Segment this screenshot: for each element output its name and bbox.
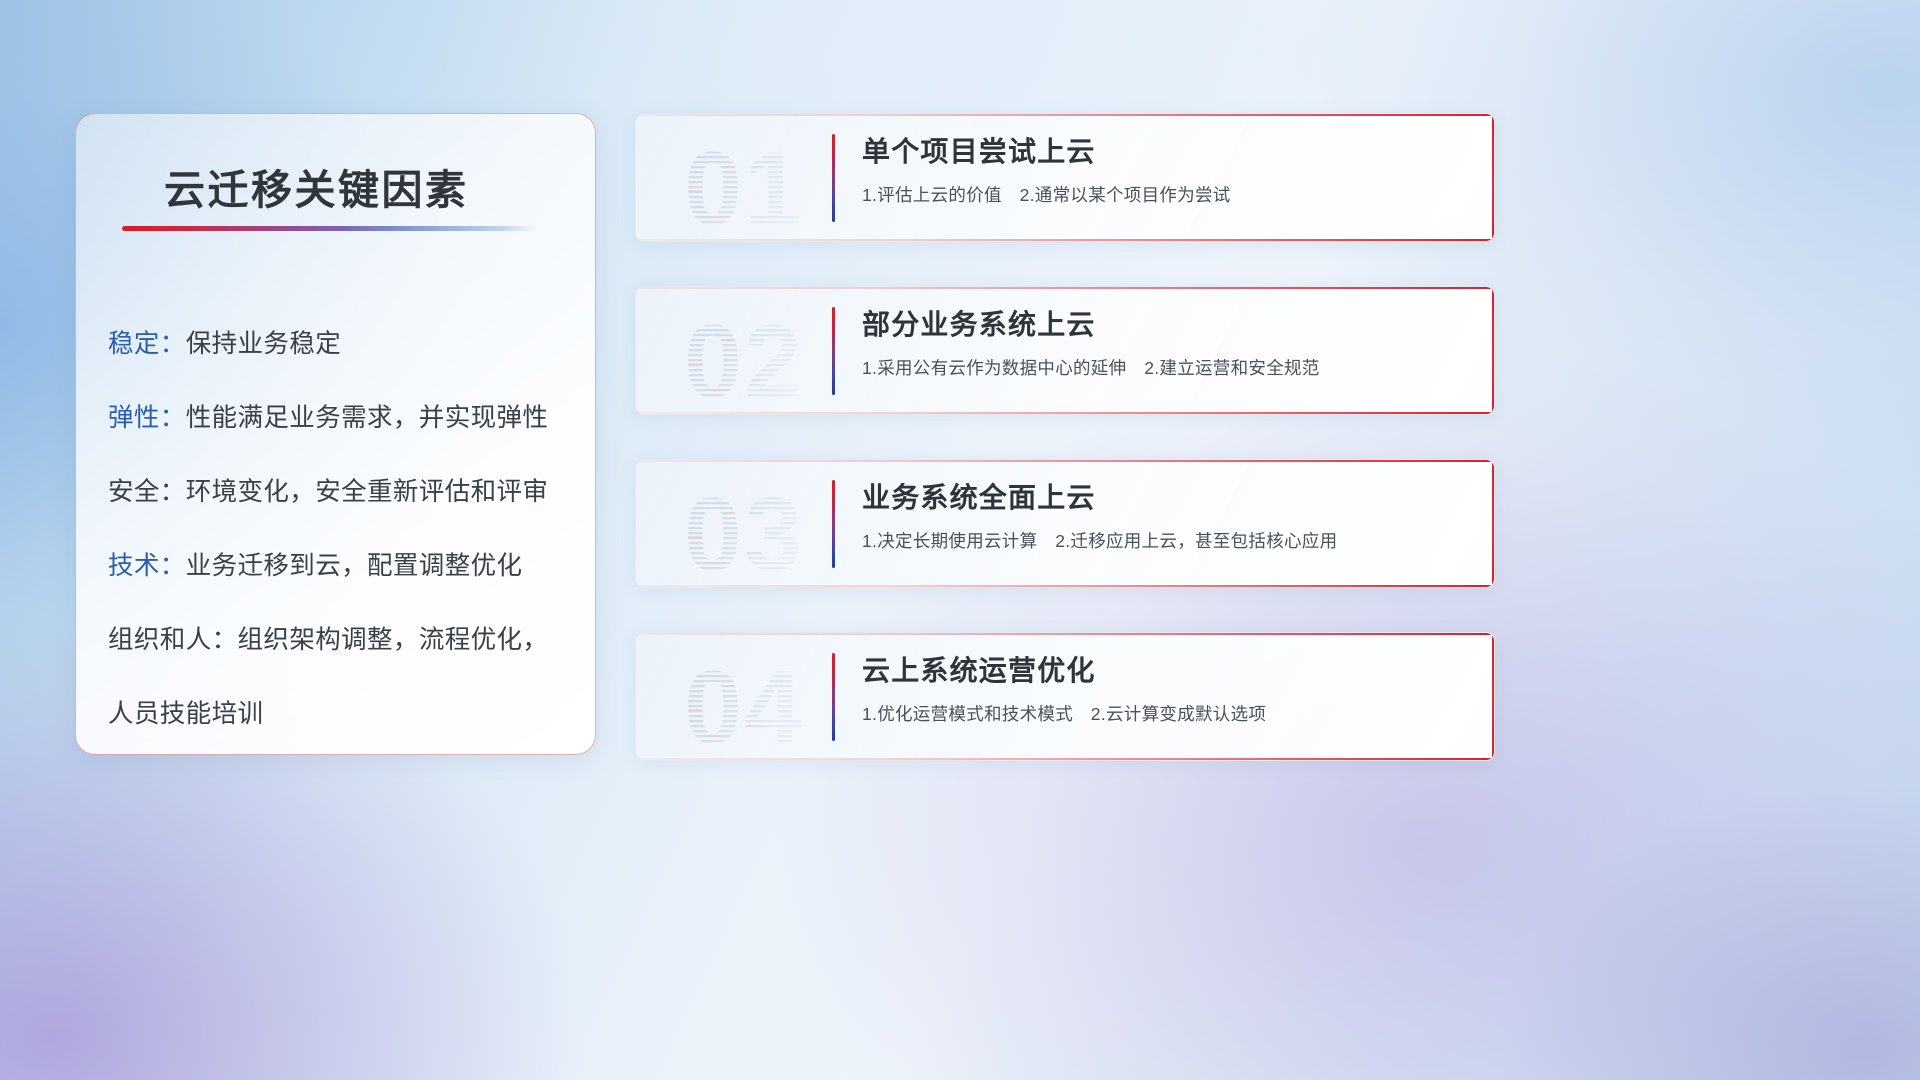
key-factor-value: 性能满足业务需求，并实现弹性 xyxy=(186,404,549,432)
step-title: 云上系统运营优化 xyxy=(862,651,1470,691)
key-factor-row: 稳定：保持业务稳定 xyxy=(108,307,573,381)
step-accent-bar xyxy=(832,480,835,568)
card-right-accent xyxy=(1492,460,1494,587)
key-factor-value: 环境变化，安全重新评估和评审 xyxy=(186,478,549,506)
step-description: 1.决定长期使用云计算 2.迁移应用上云，甚至包括核心应用 xyxy=(862,525,1470,557)
key-factor-row: 人员技能培训 xyxy=(108,677,573,751)
key-factors-list: 稳定：保持业务稳定弹性：性能满足业务需求，并实现弹性安全：环境变化，安全重新评估… xyxy=(108,307,573,751)
step-description: 1.优化运营模式和技术模式 2.云计算变成默认选项 xyxy=(862,698,1470,730)
step-card[interactable]: 04云上系统运营优化1.优化运营模式和技术模式 2.云计算变成默认选项 xyxy=(635,632,1495,761)
key-factor-label: 弹性： xyxy=(108,404,186,432)
step-accent-bar xyxy=(832,307,835,395)
step-description: 1.评估上云的价值 2.通常以某个项目作为尝试 xyxy=(862,179,1470,211)
card-top-accent xyxy=(636,287,1494,289)
key-factor-value: 保持业务稳定 xyxy=(186,330,341,358)
key-factor-label: 组织和人： xyxy=(108,626,238,654)
step-accent-bar xyxy=(832,134,835,222)
key-factor-value: 人员技能培训 xyxy=(108,700,263,728)
step-number-watermark: 02 xyxy=(664,299,824,403)
step-card[interactable]: 03业务系统全面上云1.决定长期使用云计算 2.迁移应用上云，甚至包括核心应用 xyxy=(635,459,1495,588)
step-title: 单个项目尝试上云 xyxy=(862,132,1470,172)
card-bottom-accent xyxy=(636,758,1494,760)
key-factor-row: 弹性：性能满足业务需求，并实现弹性 xyxy=(108,381,573,455)
key-factor-row: 组织和人：组织架构调整，流程优化， xyxy=(108,603,573,677)
panel-title: 云迁移关键因素 xyxy=(164,156,564,216)
step-number-watermark: 01 xyxy=(664,126,824,230)
step-title: 部分业务系统上云 xyxy=(862,305,1470,345)
step-number-watermark: 03 xyxy=(664,472,824,576)
step-card[interactable]: 01单个项目尝试上云1.评估上云的价值 2.通常以某个项目作为尝试 xyxy=(635,113,1495,242)
card-right-accent xyxy=(1492,633,1494,760)
card-right-accent xyxy=(1492,114,1494,241)
key-factors-panel: 云迁移关键因素 稳定：保持业务稳定弹性：性能满足业务需求，并实现弹性安全：环境变… xyxy=(75,113,596,755)
step-card[interactable]: 02部分业务系统上云1.采用公有云作为数据中心的延伸 2.建立运营和安全规范 xyxy=(635,286,1495,415)
card-top-accent xyxy=(636,114,1494,116)
card-bottom-accent xyxy=(636,412,1494,414)
card-bottom-accent xyxy=(636,239,1494,241)
step-accent-bar xyxy=(832,653,835,741)
card-bottom-accent xyxy=(636,585,1494,587)
step-card-body: 云上系统运营优化1.优化运营模式和技术模式 2.云计算变成默认选项 xyxy=(862,651,1470,730)
step-title: 业务系统全面上云 xyxy=(862,478,1470,518)
step-number-watermark: 04 xyxy=(664,645,824,749)
key-factor-label: 技术： xyxy=(108,552,186,580)
key-factor-label: 安全： xyxy=(108,478,186,506)
key-factor-row: 安全：环境变化，安全重新评估和评审 xyxy=(108,455,573,529)
key-factor-value: 业务迁移到云，配置调整优化 xyxy=(186,552,523,580)
migration-steps-list: 01单个项目尝试上云1.评估上云的价值 2.通常以某个项目作为尝试02部分业务系… xyxy=(635,113,1495,805)
title-underline-gradient xyxy=(126,226,536,231)
card-right-accent xyxy=(1492,287,1494,414)
step-description: 1.采用公有云作为数据中心的延伸 2.建立运营和安全规范 xyxy=(862,352,1470,384)
step-card-body: 单个项目尝试上云1.评估上云的价值 2.通常以某个项目作为尝试 xyxy=(862,132,1470,211)
key-factor-label: 稳定： xyxy=(108,330,186,358)
card-top-accent xyxy=(636,460,1494,462)
step-card-body: 部分业务系统上云1.采用公有云作为数据中心的延伸 2.建立运营和安全规范 xyxy=(862,305,1470,384)
card-top-accent xyxy=(636,633,1494,635)
key-factor-value: 组织架构调整，流程优化， xyxy=(238,626,549,654)
key-factor-row: 技术：业务迁移到云，配置调整优化 xyxy=(108,529,573,603)
step-card-body: 业务系统全面上云1.决定长期使用云计算 2.迁移应用上云，甚至包括核心应用 xyxy=(862,478,1470,557)
